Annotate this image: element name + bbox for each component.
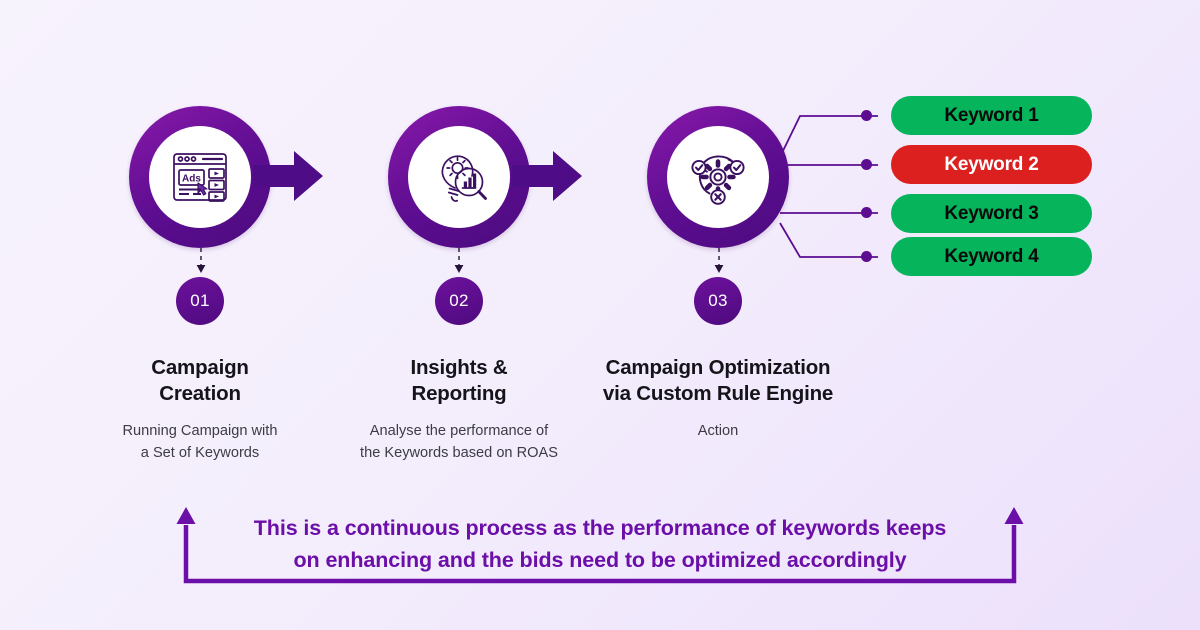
- step-title-2-line2: Reporting: [339, 381, 579, 407]
- step-number-3: 03: [708, 291, 728, 311]
- step-title-1-line2: Creation: [80, 381, 320, 407]
- step-desc-2-line2: the Keywords based on ROAS: [329, 442, 589, 464]
- step-title-1: Campaign Creation: [80, 355, 320, 407]
- step-circle-3: [647, 106, 789, 248]
- keyword-chip-2[interactable]: Keyword 2: [891, 145, 1092, 184]
- keyword-connector-lines: [778, 95, 888, 280]
- step-number-badge-3: 03: [694, 277, 742, 325]
- callout-line1: This is a continuous process as the perf…: [195, 512, 1005, 544]
- connector-dot-2: [861, 159, 872, 170]
- step-title-3: Campaign Optimization via Custom Rule En…: [568, 355, 868, 407]
- keyword-chip-3[interactable]: Keyword 3: [891, 194, 1092, 233]
- step-icon-wrap-1: Ads: [149, 126, 251, 228]
- ads-browser-window-icon: Ads: [165, 142, 235, 212]
- connector-dot-3: [861, 207, 872, 218]
- step-title-3-line2: via Custom Rule Engine: [568, 381, 868, 407]
- step-title-2-line1: Insights &: [339, 355, 579, 381]
- step-title-1-line1: Campaign: [80, 355, 320, 381]
- keyword-chip-1-label: Keyword 1: [944, 105, 1038, 127]
- step-desc-1: Running Campaign with a Set of Keywords: [70, 420, 330, 464]
- step-desc-1-line2: a Set of Keywords: [70, 442, 330, 464]
- keyword-chip-3-label: Keyword 3: [944, 203, 1038, 225]
- step-desc-3: Action: [588, 420, 848, 442]
- keyword-chip-1[interactable]: Keyword 1: [891, 96, 1092, 135]
- step-number-badge-1: 01: [176, 277, 224, 325]
- flow-arrow-2-to-3: [512, 145, 584, 212]
- diagram-canvas: Ads: [0, 0, 1200, 630]
- step-desc-1-line1: Running Campaign with: [70, 420, 330, 442]
- step-desc-2: Analyse the performance of the Keywords …: [329, 420, 589, 464]
- connector-dot-1: [861, 110, 872, 121]
- keyword-chip-4-label: Keyword 4: [944, 246, 1038, 268]
- step-desc-2-line1: Analyse the performance of: [329, 420, 589, 442]
- connector-dot-4: [861, 251, 872, 262]
- step-number-2: 02: [449, 291, 469, 311]
- lightbulb-gear-magnifier-chart-icon: [424, 142, 494, 212]
- continuous-process-callout: This is a continuous process as the perf…: [195, 512, 1005, 576]
- step-icon-wrap-2: [408, 126, 510, 228]
- keyword-chip-2-label: Keyword 2: [944, 154, 1038, 176]
- step-circle-1: Ads: [129, 106, 271, 248]
- step-desc-3-line1: Action: [588, 420, 848, 442]
- step-title-2: Insights & Reporting: [339, 355, 579, 407]
- step-number-badge-2: 02: [435, 277, 483, 325]
- step-number-1: 01: [190, 291, 210, 311]
- gear-cycle-rules-icon: [682, 141, 754, 213]
- flow-arrow-1-to-2: [253, 145, 325, 212]
- step-title-3-line1: Campaign Optimization: [568, 355, 868, 381]
- keyword-chip-4[interactable]: Keyword 4: [891, 237, 1092, 276]
- callout-line2: on enhancing and the bids need to be opt…: [195, 544, 1005, 576]
- step-circle-2: [388, 106, 530, 248]
- step-icon-wrap-3: [667, 126, 769, 228]
